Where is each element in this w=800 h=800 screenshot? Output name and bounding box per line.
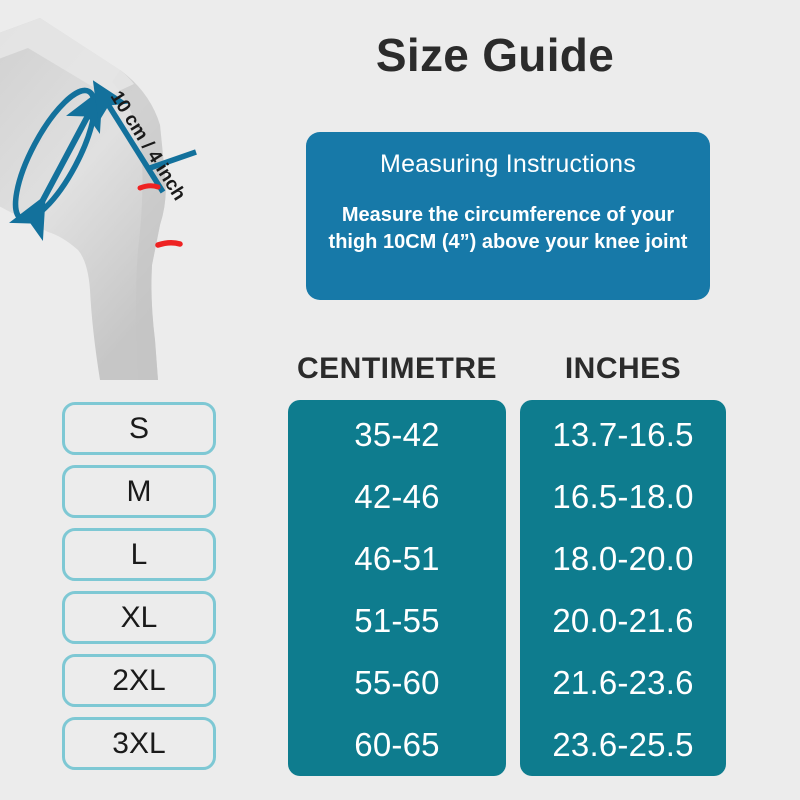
cm-value-2xl: 55-60 [288, 652, 506, 714]
size-guide-page: 10 cm / 4 inch Size Guide Measuring Inst… [0, 0, 800, 800]
cm-value-m: 42-46 [288, 466, 506, 528]
inch-value-3xl: 23.6-25.5 [520, 714, 726, 776]
size-chip-m[interactable]: M [62, 465, 216, 518]
knee-marker-upper-icon [140, 186, 158, 188]
column-header-inches: INCHES [520, 352, 726, 386]
size-chip-3xl[interactable]: 3XL [62, 717, 216, 770]
cm-value-s: 35-42 [288, 404, 506, 466]
knee-marker-lower-icon [158, 243, 180, 245]
inches-value-column: 13.7-16.5 16.5-18.0 18.0-20.0 20.0-21.6 … [520, 400, 726, 776]
size-label-column: S M L XL 2XL 3XL [62, 402, 216, 780]
size-chip-2xl[interactable]: 2XL [62, 654, 216, 707]
centimetre-value-column: 35-42 42-46 46-51 51-55 55-60 60-65 [288, 400, 506, 776]
inch-value-l: 18.0-20.0 [520, 528, 726, 590]
inch-value-m: 16.5-18.0 [520, 466, 726, 528]
knee-measurement-illustration: 10 cm / 4 inch [0, 0, 275, 380]
inch-value-s: 13.7-16.5 [520, 404, 726, 466]
cm-value-xl: 51-55 [288, 590, 506, 652]
measuring-instructions-panel: Measuring Instructions Measure the circu… [306, 132, 710, 300]
size-chip-s[interactable]: S [62, 402, 216, 455]
cm-value-3xl: 60-65 [288, 714, 506, 776]
knee-diagram-svg: 10 cm / 4 inch [0, 0, 275, 380]
instructions-body: Measure the circumference of your thigh … [306, 202, 710, 256]
size-chip-l[interactable]: L [62, 528, 216, 581]
instructions-heading: Measuring Instructions [306, 146, 710, 182]
inch-value-2xl: 21.6-23.6 [520, 652, 726, 714]
cm-value-l: 46-51 [288, 528, 506, 590]
size-chip-xl[interactable]: XL [62, 591, 216, 644]
inch-value-xl: 20.0-21.6 [520, 590, 726, 652]
page-title: Size Guide [280, 28, 710, 82]
column-header-centimetre: CENTIMETRE [288, 352, 506, 386]
